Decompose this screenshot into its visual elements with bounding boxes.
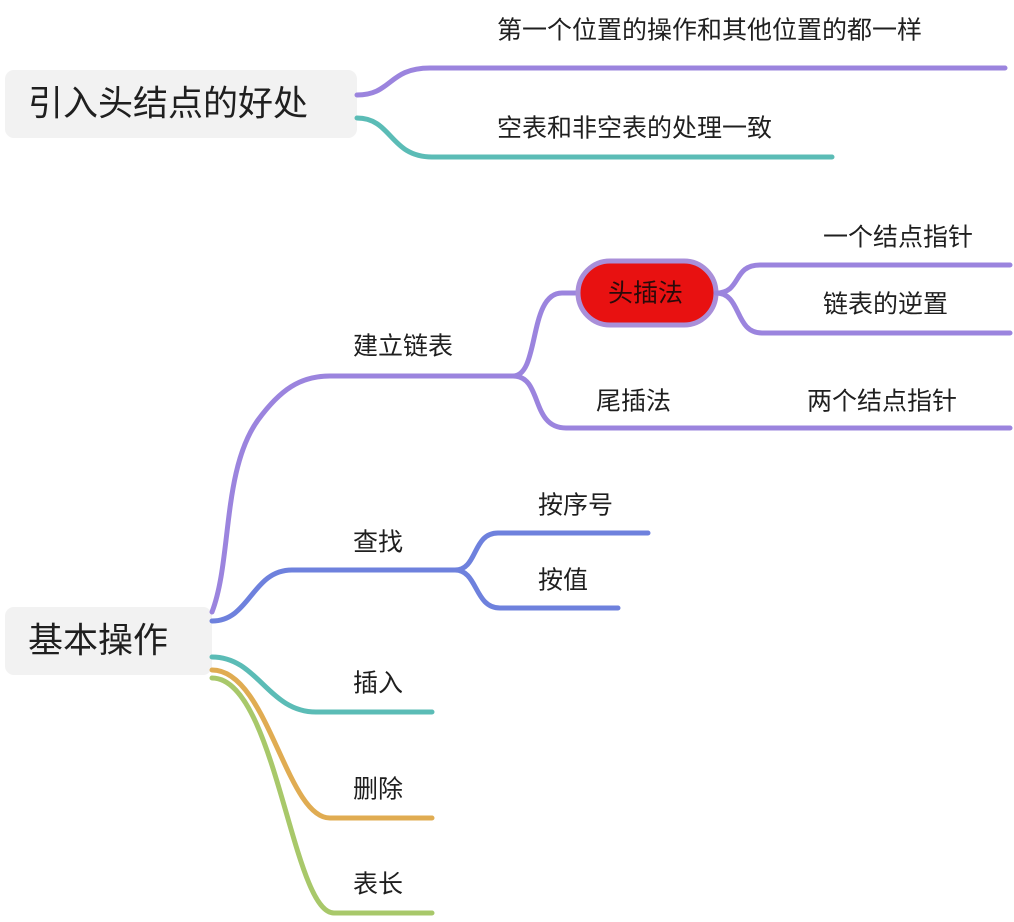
leaf-label-by-index: 按序号 (538, 492, 613, 520)
leaf-label-reverse-list: 链表的逆置 (823, 291, 948, 319)
link-head-insert-to-one-pointer (716, 265, 1010, 293)
branch-label-tail-insert: 尾插法 (596, 388, 671, 416)
link-build-list-to-head-insert (513, 293, 585, 376)
leaf-label-same-op: 第一个位置的操作和其他位置的都一样 (497, 17, 922, 45)
leaf-label-by-value: 按值 (538, 567, 588, 595)
root-node-basic-ops[interactable]: 基本操作 (5, 607, 212, 675)
branch-label-length: 表长 (353, 871, 403, 899)
branch-label-insert: 插入 (353, 670, 403, 698)
link-benefits-to-same-op (357, 68, 1005, 95)
branch-label-search: 查找 (353, 529, 403, 557)
mindmap-canvas: 引入头结点的好处 第一个位置的操作和其他位置的都一样 空表和非空表的处理一致 基… (0, 0, 1014, 922)
head-insert-label: 头插法 (608, 280, 683, 308)
leaf-label-empty-table: 空表和非空表的处理一致 (497, 115, 772, 143)
root-node-benefits[interactable]: 引入头结点的好处 (5, 70, 357, 138)
node-head-insert[interactable]: 头插法 (578, 261, 716, 325)
link-search-to-by-value (455, 570, 618, 608)
link-search-to-by-index (455, 533, 648, 570)
branch-label-build-list: 建立链表 (353, 333, 453, 361)
branch-label-delete: 删除 (353, 776, 403, 804)
root-basic-ops-label: 基本操作 (28, 621, 168, 660)
link-basic-ops-to-search (212, 570, 455, 621)
root-benefits-label: 引入头结点的好处 (28, 84, 308, 123)
leaf-label-one-pointer: 一个结点指针 (823, 224, 973, 252)
leaf-label-two-pointers: 两个结点指针 (807, 388, 957, 416)
